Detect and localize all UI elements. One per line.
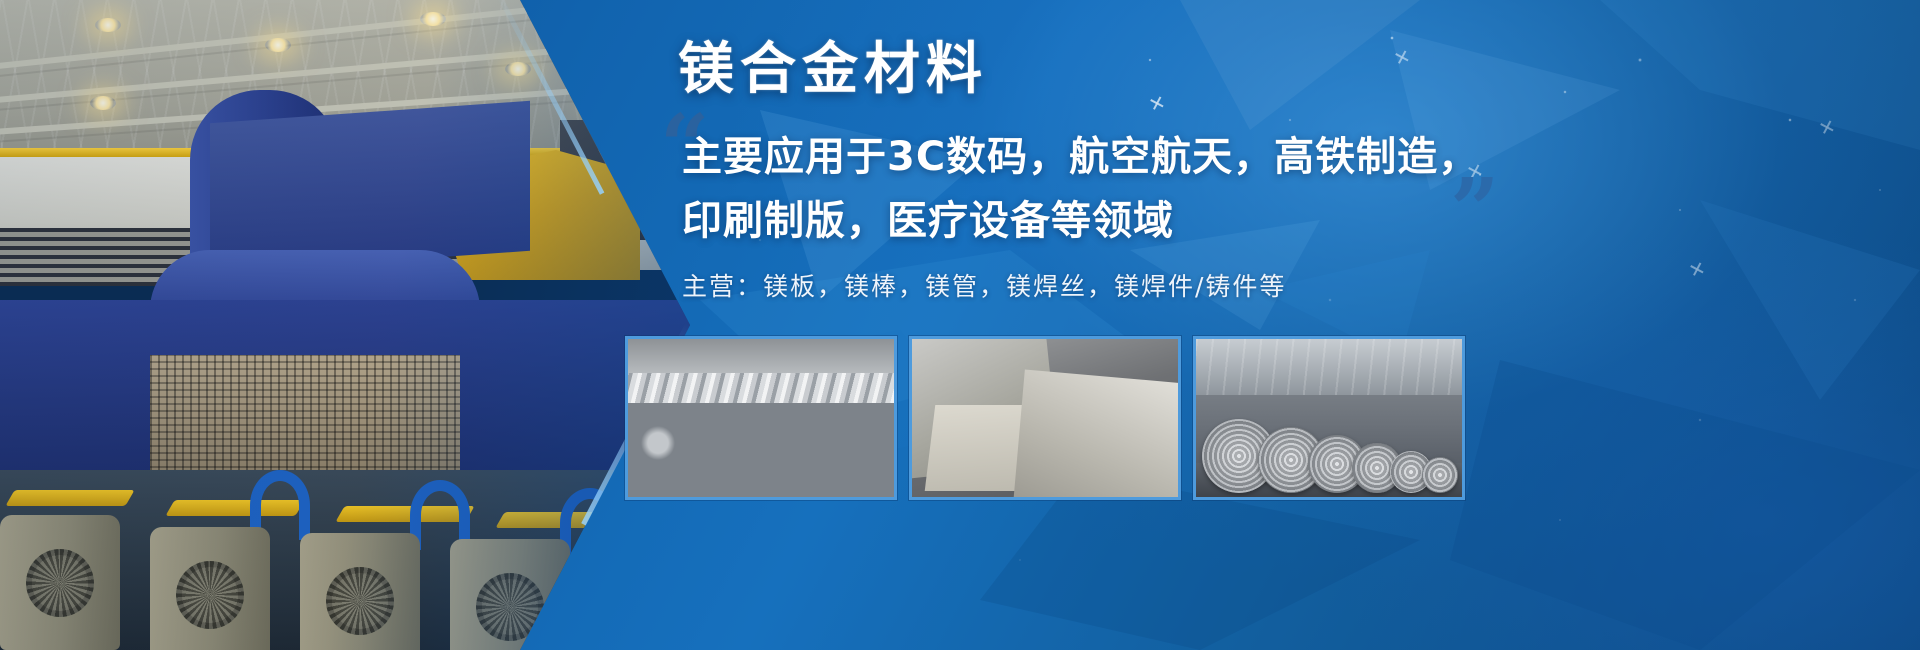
subtitle-line-1: 主要应用于3C数码，航空航天，高铁制造， (682, 126, 1682, 188)
magnesium-rods-thumbnail[interactable] (625, 336, 897, 500)
page-title: 镁合金材料 (678, 42, 988, 98)
magnesium-coils-thumbnail[interactable] (1193, 336, 1465, 500)
banner-content: 镁合金材料 “ ” 主要应用于3C数码，航空航天，高铁制造， 印刷制版，医疗设备… (660, 0, 1920, 650)
main-products-text: 主营：镁板，镁棒，镁管，镁焊丝，镁焊件/铸件等 (682, 272, 1286, 302)
product-banner: 镁合金材料 “ ” 主要应用于3C数码，航空航天，高铁制造， 印刷制版，医疗设备… (0, 0, 1920, 650)
product-thumbnail-strip (625, 336, 1465, 500)
magnesium-plates-thumbnail[interactable] (909, 336, 1181, 500)
subtitle-line-2: 印刷制版，医疗设备等领域 (682, 190, 1682, 252)
factory-interior-photo (0, 0, 690, 650)
